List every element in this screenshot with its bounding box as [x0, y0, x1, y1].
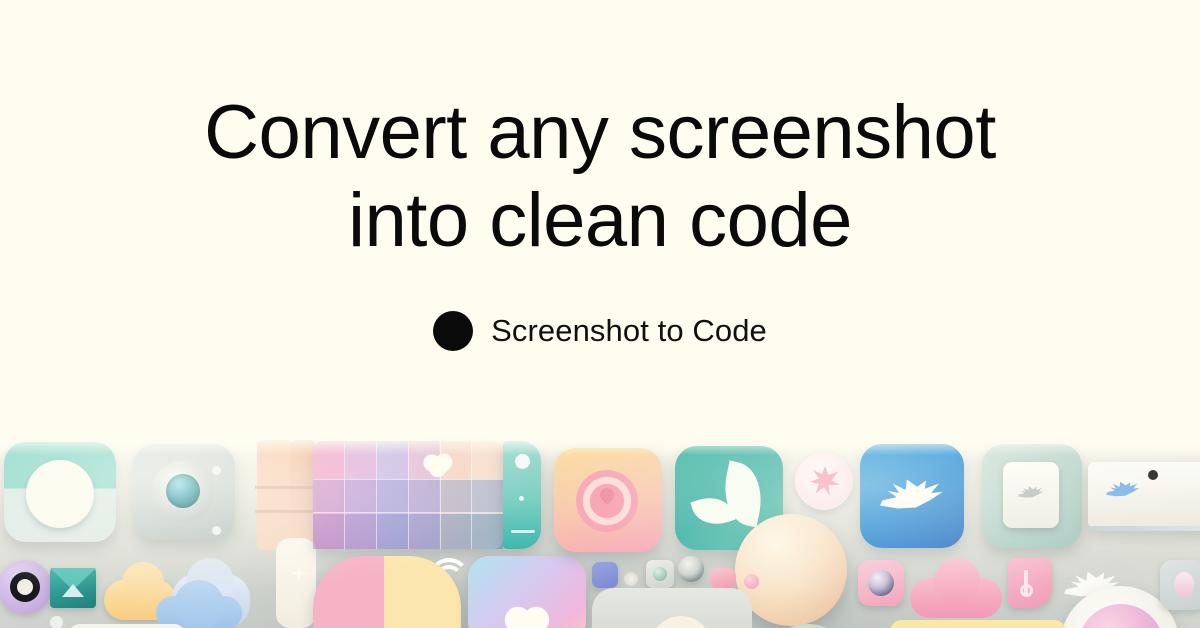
blue-bird-eye-dot — [1148, 470, 1158, 480]
headline-line-1: Convert any screenshot — [204, 89, 996, 177]
pink-yellow-card — [313, 556, 461, 628]
blue-cloud-puff-front — [174, 580, 224, 628]
headline-line-2: into clean code — [204, 177, 996, 265]
far-right-icon-dot — [1174, 572, 1194, 598]
blue-square-icon — [592, 562, 618, 588]
mint-panel-line-icon — [511, 530, 535, 533]
brand-logo-circle-icon — [433, 311, 473, 351]
card-heart-icon — [509, 611, 546, 628]
small-dot-icon — [624, 572, 638, 586]
pink-bead-icon — [744, 574, 759, 589]
purple-ring-inner-white — [17, 579, 33, 595]
tag-letter-dot — [1020, 584, 1033, 597]
page-title: Convert any screenshot into clean code — [204, 89, 996, 265]
swatch-divider-3 — [408, 441, 409, 549]
hero-text-block: Convert any screenshot into clean code S… — [0, 0, 1200, 440]
small-white-dot-icon — [50, 616, 63, 628]
camera-dot-top-icon — [212, 466, 221, 475]
swatch-divider-5 — [471, 441, 472, 549]
white-bird-card — [1088, 462, 1200, 528]
teal-bottom-circle — [760, 624, 856, 628]
yellow-cloud-puff — [122, 562, 164, 604]
white-rounded-card — [68, 624, 186, 628]
white-vertical-strip — [276, 538, 316, 628]
white-card-base-line — [1086, 526, 1200, 531]
camera-dot-bottom-icon — [212, 526, 221, 535]
og-card: Convert any screenshot into clean code S… — [0, 0, 1200, 628]
brand-row: Screenshot to Code — [433, 311, 767, 351]
camera-lens-icon — [166, 474, 200, 508]
dial-icon — [678, 556, 704, 582]
mint-panel-button-icon — [515, 454, 530, 469]
swatch-divider-2 — [376, 441, 377, 549]
brand-name: Screenshot to Code — [491, 313, 767, 349]
swatch-divider-1 — [344, 441, 345, 549]
white-circle-icon — [26, 460, 94, 528]
pink-dial-icon — [868, 570, 894, 596]
pink-tag-card — [1008, 558, 1052, 608]
yellow-bar — [890, 620, 1066, 628]
decorative-icon-collage — [0, 438, 1200, 628]
envelope-arrow-icon — [62, 584, 84, 597]
camera-mini-lens — [653, 567, 667, 581]
pink-gem-icon — [710, 568, 736, 590]
pink-cloud-puff — [934, 558, 980, 604]
peach-vertical-strip — [257, 440, 293, 550]
mint-panel-dot-icon — [519, 496, 524, 501]
